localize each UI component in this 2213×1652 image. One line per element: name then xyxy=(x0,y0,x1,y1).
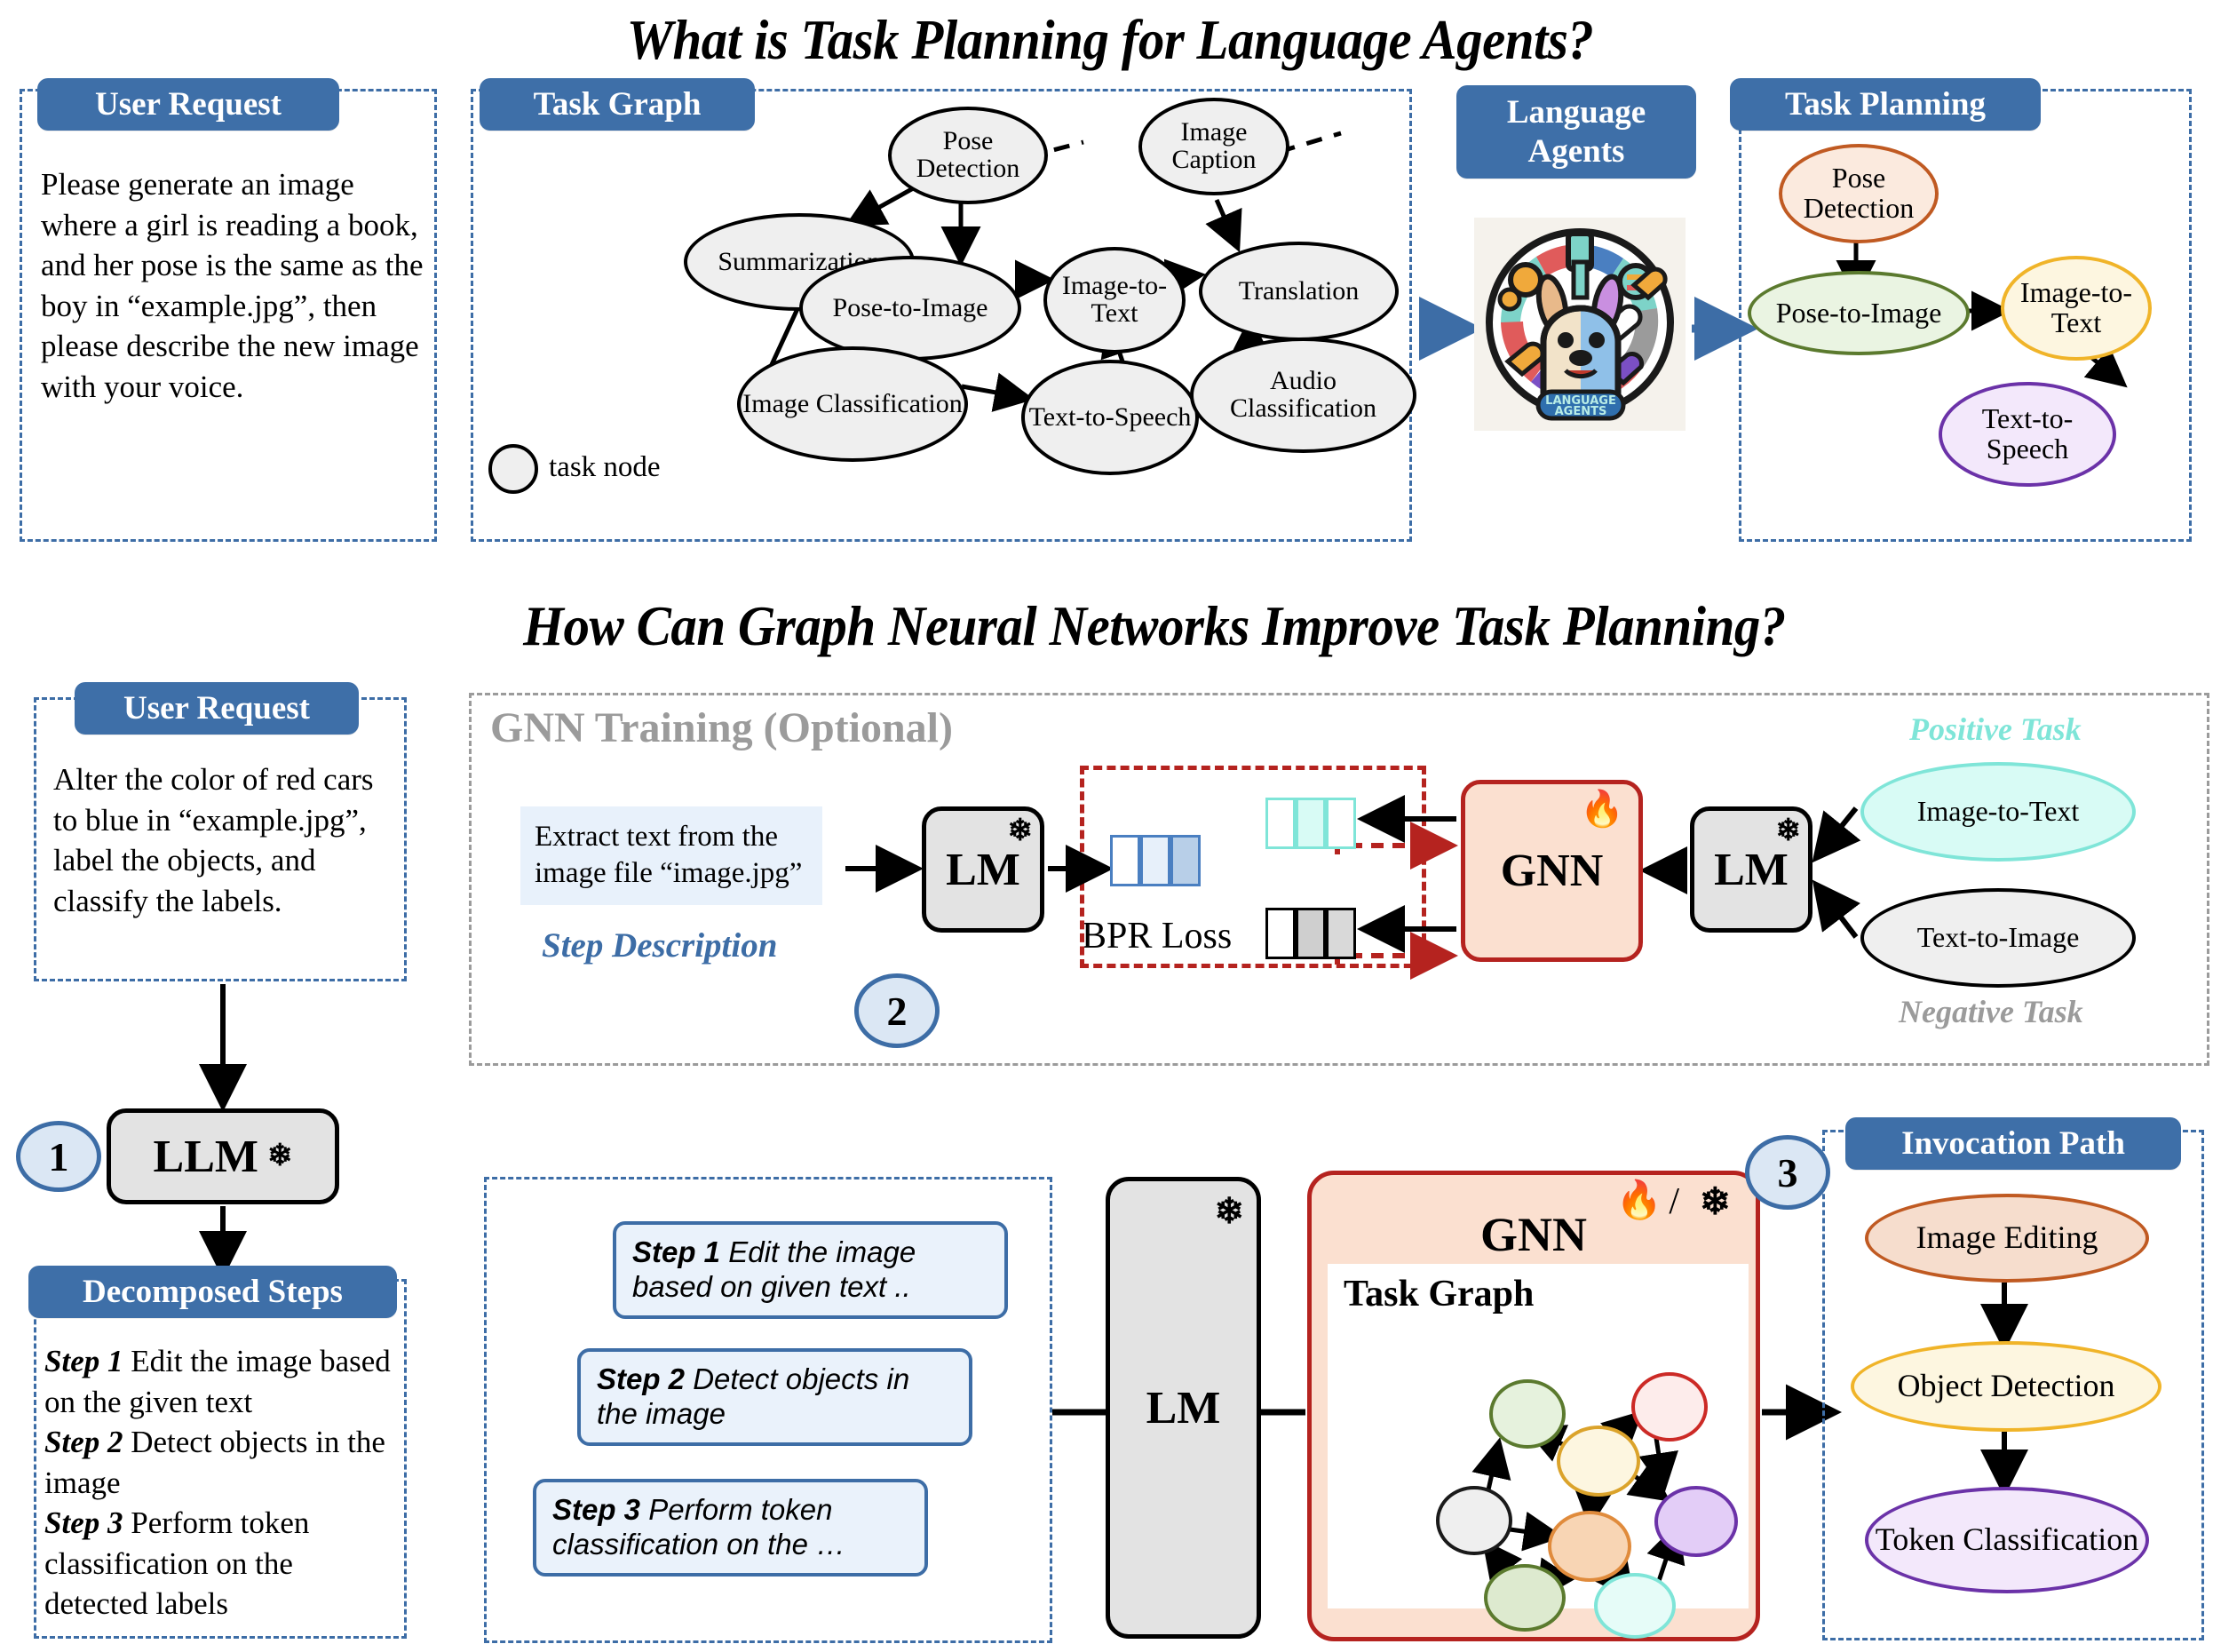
lm-box-training-right[interactable]: LM ❄ xyxy=(1690,806,1812,933)
snowflake-icon: ❄ xyxy=(1700,1184,1731,1221)
invocation-path-canvas: Image Editing Object Detection Token Cla… xyxy=(1822,1130,2204,1640)
node-label: Image-to-Text xyxy=(2004,278,2148,338)
llm-label: LLM xyxy=(154,1131,258,1183)
llama-logo-icon: LANGUAGE AGENTS xyxy=(1474,218,1686,431)
node-image-to-text[interactable]: Image-to-Text xyxy=(1043,247,1186,353)
lm-box-inference[interactable]: LM ❄ xyxy=(1106,1177,1261,1639)
lm-label: LM xyxy=(946,844,1020,896)
plan-node-pose-detection[interactable]: Pose Detection xyxy=(1779,144,1939,243)
legend-task-node-icon xyxy=(488,444,538,494)
invocation-node-image-editing[interactable]: Image Editing xyxy=(1865,1194,2149,1283)
lm-box-training-left[interactable]: LM ❄ xyxy=(922,806,1044,933)
mini-node-cyan xyxy=(1594,1573,1676,1639)
mini-node-gray xyxy=(1436,1486,1512,1555)
node-label: Token Classification xyxy=(1876,1523,2138,1557)
mini-node-yellow xyxy=(1557,1426,1640,1497)
gnn-box-inference[interactable]: GNN 🔥 / ❄ Task Graph xyxy=(1307,1171,1760,1641)
gnn-label: GNN xyxy=(1501,845,1604,897)
node-label: Pose Detection xyxy=(1782,163,1935,223)
svg-text:AGENTS: AGENTS xyxy=(1555,405,1607,418)
plan-node-pose-to-image[interactable]: Pose-to-Image xyxy=(1748,271,1970,355)
chip-task-planning: Task Planning xyxy=(1730,78,2041,131)
node-pose-to-image[interactable]: Pose-to-Image xyxy=(799,256,1021,361)
fire-icon: 🔥 xyxy=(1580,791,1624,827)
chip-language-agents: Language Agents xyxy=(1456,85,1696,179)
vector-cell xyxy=(1326,798,1356,849)
node-label: Pose Detection xyxy=(892,128,1044,183)
plan-node-image-to-text[interactable]: Image-to-Text xyxy=(2001,256,2152,361)
mini-node-purple xyxy=(1654,1486,1738,1557)
snowflake-icon: ❄ xyxy=(1214,1194,1244,1229)
node-translation[interactable]: Translation xyxy=(1199,242,1399,341)
vector-cell xyxy=(1296,908,1326,959)
badge-step-3: 3 xyxy=(1745,1135,1830,1210)
invocation-node-token-classification[interactable]: Token Classification xyxy=(1865,1487,2149,1593)
snowflake-icon: ❄ xyxy=(267,1141,293,1171)
vector-cell xyxy=(1265,798,1296,849)
node-audio-classification[interactable]: Audio Classification xyxy=(1190,338,1416,453)
lm-label: LM xyxy=(1714,844,1789,896)
node-image-classification[interactable]: Image Classification xyxy=(737,346,968,462)
chip-task-graph: Task Graph xyxy=(480,78,755,131)
mini-node-green2 xyxy=(1484,1564,1566,1632)
snowflake-icon: ❄ xyxy=(1776,816,1802,846)
node-image-caption[interactable]: Image Caption xyxy=(1138,98,1289,195)
chip-decomposed-steps: Decomposed Steps xyxy=(28,1266,397,1318)
node-label: Audio Classification xyxy=(1194,368,1413,423)
vector-cell xyxy=(1170,835,1201,886)
node-label: Text-to-Image xyxy=(1917,923,2080,953)
positive-task-node[interactable]: Image-to-Text xyxy=(1860,762,2136,862)
node-label: Image Editing xyxy=(1916,1221,2098,1255)
node-label: Image-to-Text xyxy=(1047,273,1182,328)
node-label: Image Caption xyxy=(1142,119,1286,174)
node-label: Image Classification xyxy=(742,391,962,418)
vector-cell xyxy=(1110,835,1140,886)
language-agents-logo: LANGUAGE AGENTS xyxy=(1474,218,1686,431)
badge-step-1: 1 xyxy=(16,1121,101,1192)
badge-step-2: 2 xyxy=(854,973,940,1048)
node-label: Text-to-Speech xyxy=(1942,404,2113,464)
anchor-embedding-vector xyxy=(1110,835,1201,886)
chip-user-request-bottom: User Request xyxy=(75,682,359,735)
mini-node-red xyxy=(1631,1372,1708,1442)
node-label: Translation xyxy=(1239,278,1360,306)
positive-embedding-vector xyxy=(1265,798,1356,849)
node-label: Text-to-Speech xyxy=(1029,404,1192,432)
negative-task-node[interactable]: Text-to-Image xyxy=(1860,888,2136,988)
plan-node-text-to-speech[interactable]: Text-to-Speech xyxy=(1939,382,2116,487)
invocation-node-object-detection[interactable]: Object Detection xyxy=(1851,1341,2161,1432)
gnn-label-row: GNN 🔥 / ❄ xyxy=(1312,1175,1756,1255)
gnn-task-graph-panel: Task Graph xyxy=(1328,1264,1749,1608)
mini-node-green xyxy=(1489,1379,1566,1449)
gnn-box-training[interactable]: GNN 🔥 xyxy=(1461,780,1643,962)
node-label: Pose-to-Image xyxy=(1776,298,1942,329)
node-text-to-speech[interactable]: Text-to-Speech xyxy=(1021,360,1199,475)
fire-icon: 🔥 xyxy=(1616,1182,1662,1219)
node-label: Object Detection xyxy=(1898,1370,2115,1403)
chip-user-request-top: User Request xyxy=(37,78,339,131)
vector-cell xyxy=(1140,835,1170,886)
negative-embedding-vector xyxy=(1265,908,1356,959)
vector-cell xyxy=(1326,908,1356,959)
lm-label: LM xyxy=(1146,1382,1221,1434)
node-label: Image-to-Text xyxy=(1917,797,2080,827)
task-graph-label: Task Graph xyxy=(1328,1264,1749,1315)
llm-box[interactable]: LLM ❄ xyxy=(107,1108,339,1204)
slash-separator: / xyxy=(1669,1180,1679,1223)
mini-node-orange xyxy=(1548,1511,1631,1582)
node-label: Pose-to-Image xyxy=(833,295,988,322)
vector-cell xyxy=(1296,798,1326,849)
node-pose-detection[interactable]: Pose Detection xyxy=(888,107,1048,204)
snowflake-icon: ❄ xyxy=(1008,816,1034,846)
chip-invocation-path: Invocation Path xyxy=(1845,1117,2181,1170)
gnn-label: GNN xyxy=(1312,1175,1756,1262)
vector-cell xyxy=(1265,908,1296,959)
